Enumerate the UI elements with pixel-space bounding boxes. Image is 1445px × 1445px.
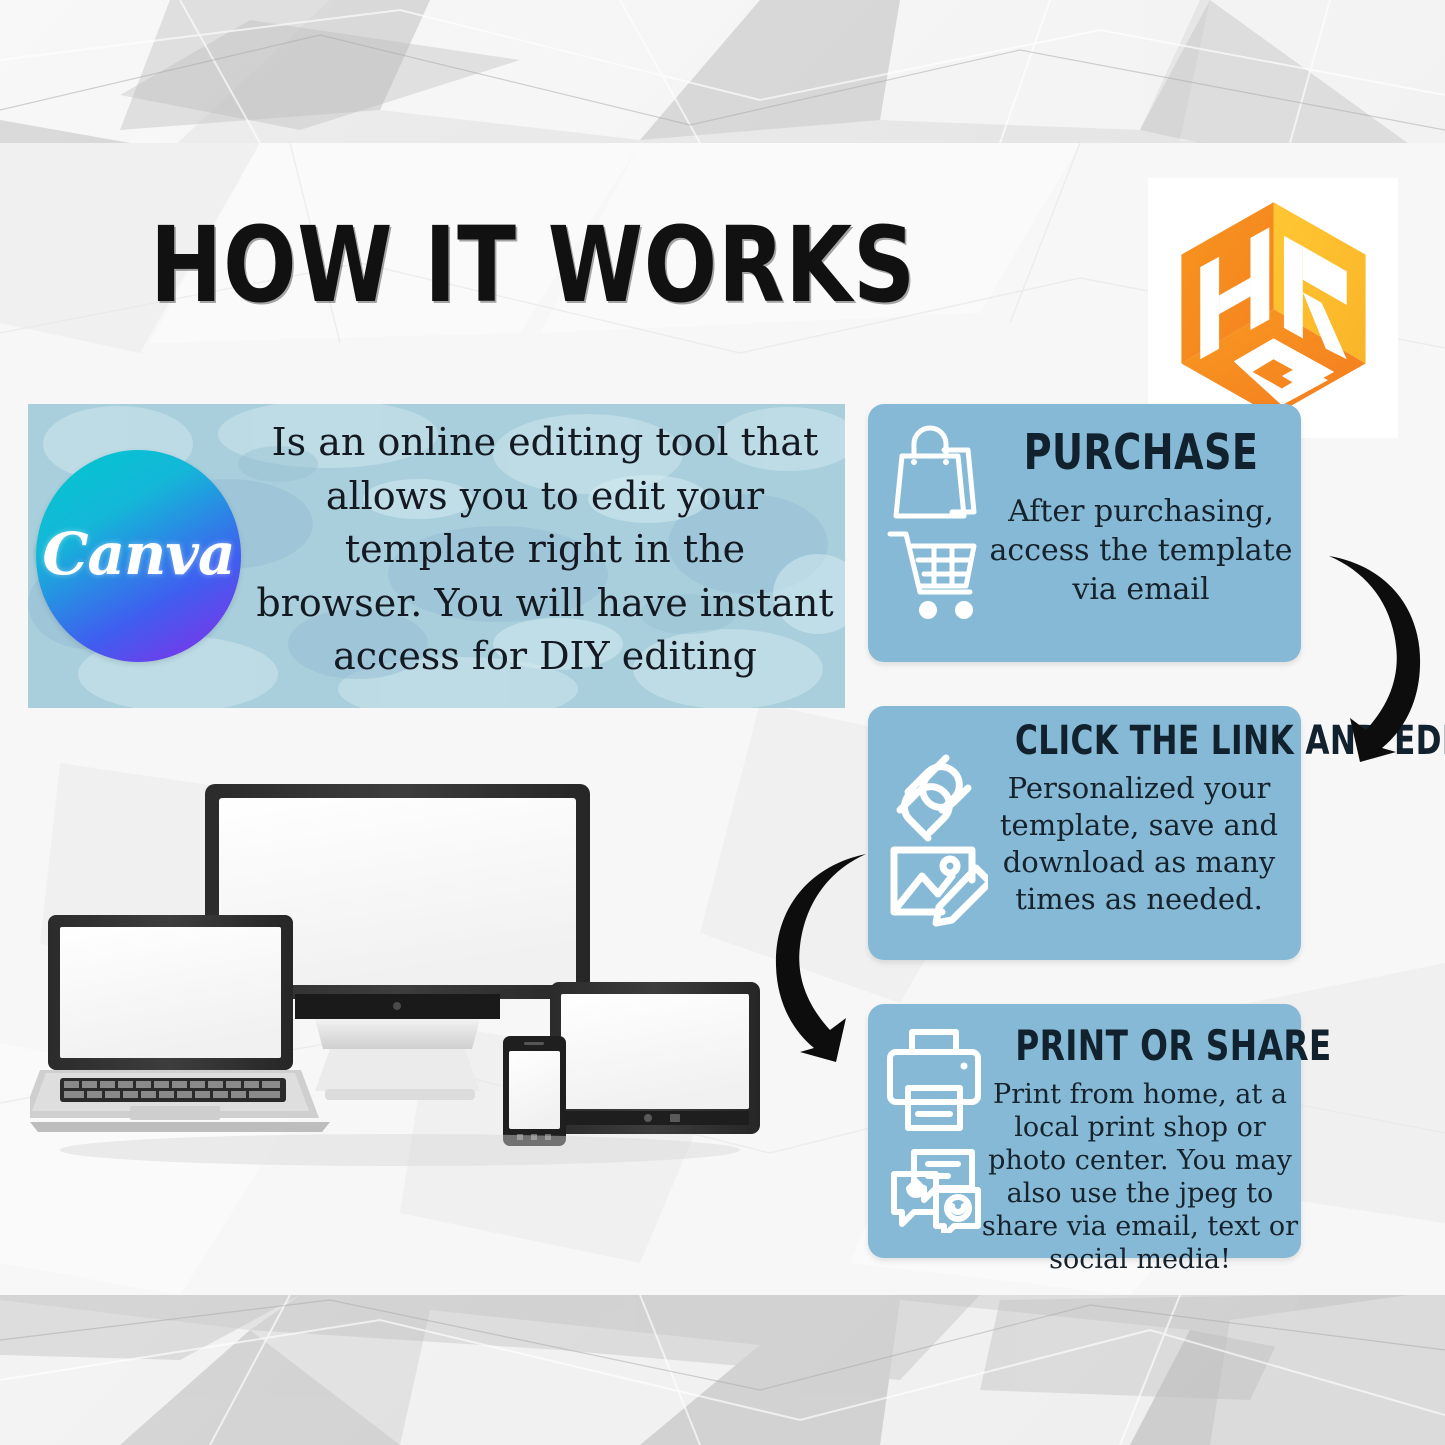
step-card-purchase[interactable]: PURCHASE After purchasing, access the te… xyxy=(868,404,1301,662)
infographic-canvas: HOW IT WORKS xyxy=(0,0,1445,1445)
printer-icon xyxy=(890,1032,978,1128)
curved-arrow-down-left-icon xyxy=(1296,540,1445,762)
image-edit-icon xyxy=(894,850,988,923)
shopping-bag-icon xyxy=(896,428,974,516)
edit-body: CLICK THE LINK AND EDIT YOURSELF Persona… xyxy=(980,718,1298,918)
purchase-body: PURCHASE After purchasing, access the te… xyxy=(986,426,1296,609)
print-body: PRINT OR SHARE Print from home, at a loc… xyxy=(980,1022,1300,1276)
print-text: Print from home, at a local print shop o… xyxy=(980,1078,1300,1276)
purchase-icons xyxy=(884,418,994,628)
step-card-print[interactable]: PRINT OR SHARE Print from home, at a loc… xyxy=(868,1004,1301,1258)
arrow-purchase-to-edit xyxy=(1296,540,1445,762)
edit-text: Personalized your template, save and dow… xyxy=(980,770,1298,918)
hrg-cube-icon xyxy=(1166,196,1381,421)
edit-heading: CLICK THE LINK AND EDIT YOURSELF xyxy=(1015,718,1263,764)
canva-info-banner: Canva Is an online editing tool that all… xyxy=(28,404,845,708)
canva-description: Is an online editing tool that allows yo… xyxy=(256,416,834,684)
devices-illustration xyxy=(30,770,772,1170)
canva-logo: Canva xyxy=(36,450,241,662)
chat-bubbles-icon xyxy=(894,1152,978,1233)
print-heading: PRINT OR SHARE xyxy=(1015,1022,1265,1070)
curved-arrow-down-right-icon xyxy=(742,840,902,1062)
page-title: HOW IT WORKS xyxy=(150,206,748,326)
canva-logo-label: Canva xyxy=(42,520,234,588)
devices-mockup-image xyxy=(30,770,772,1170)
step-card-edit[interactable]: CLICK THE LINK AND EDIT YOURSELF Persona… xyxy=(868,706,1301,960)
purchase-heading: PURCHASE xyxy=(1020,426,1262,480)
arrow-edit-to-print xyxy=(742,840,902,1062)
brand-logo xyxy=(1148,178,1398,438)
chain-link-icon xyxy=(900,758,968,838)
purchase-text: After purchasing, access the template vi… xyxy=(986,492,1296,609)
shopping-cart-icon xyxy=(890,534,974,619)
